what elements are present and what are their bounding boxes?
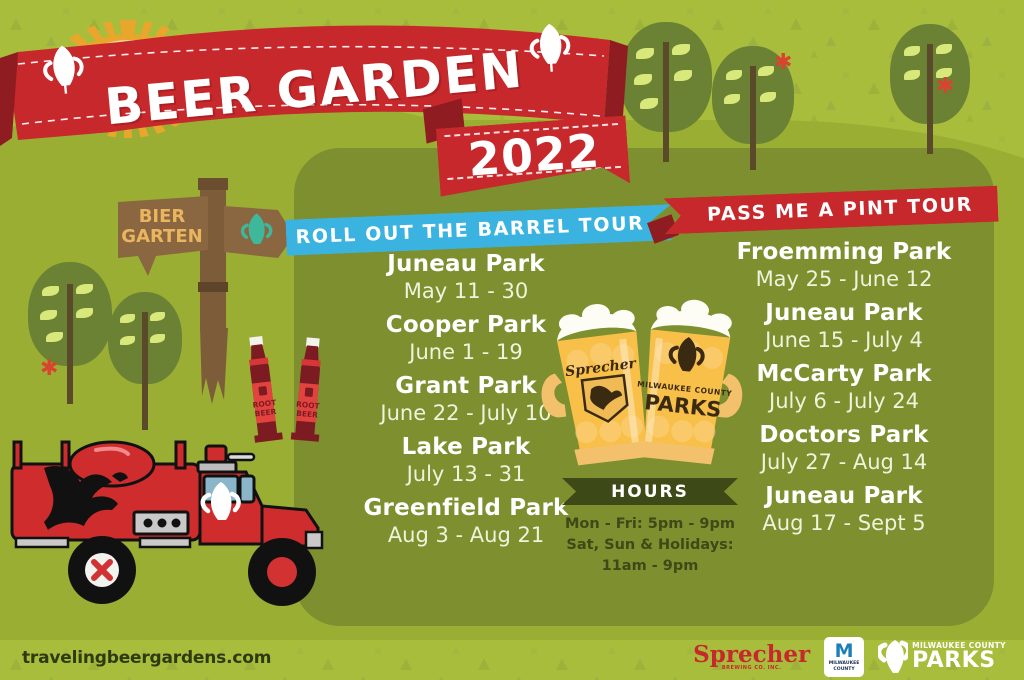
flower-icon: ✱ — [40, 358, 58, 380]
park-name: Froemming Park — [694, 240, 994, 266]
milwaukee-county-parks-logo[interactable]: MILWAUKEE COUNTY PARKS — [878, 640, 1006, 674]
sprecher-logo[interactable]: Sprecher BREWING CO. INC. — [693, 643, 810, 671]
milwaukee-county-label: MILWAUKEE COUNTY — [824, 661, 864, 672]
beer-mugs-illustration: Sprecher MILWAUKEE COUNTY PAR — [540, 296, 760, 481]
fire-truck-illustration — [0, 424, 350, 614]
tree-icon — [890, 24, 970, 154]
hours-line-3: 11am - 9pm — [540, 556, 760, 577]
flower-icon: ✱ — [936, 76, 954, 98]
leaf-icon — [878, 640, 908, 674]
hours-line-1: Mon - Fri: 5pm - 9pm — [540, 514, 760, 535]
hours-details: Mon - Fri: 5pm - 9pm Sat, Sun & Holidays… — [540, 514, 760, 577]
poster-canvas: ✱ ✱ ✱ The Traveling BEER GARDEN — [0, 0, 1024, 680]
website-url[interactable]: travelingbeergardens.com — [22, 648, 271, 668]
hours-heading-ribbon: HOURS — [562, 478, 738, 505]
tree-icon — [28, 262, 112, 404]
parks-logo-big: PARKS — [912, 650, 1006, 672]
signpost-line-1: BIER — [139, 206, 186, 227]
flower-icon: ✱ — [774, 52, 792, 74]
park-name: Juneau Park — [316, 252, 616, 278]
list-item[interactable]: Froemming Park May 25 - June 12 — [694, 240, 994, 293]
sprecher-wordmark: Sprecher — [693, 643, 810, 666]
park-name: Juneau Park — [694, 484, 994, 510]
hours-line-2: Sat, Sun & Holidays: — [540, 535, 760, 556]
park-dates: May 25 - June 12 — [694, 266, 994, 293]
milwaukee-county-monogram: M — [835, 642, 854, 661]
signpost-line-2: GARTEN — [121, 226, 202, 247]
milwaukee-county-logo[interactable]: M MILWAUKEE COUNTY — [824, 637, 864, 677]
sponsor-logos: Sprecher BREWING CO. INC. M MILWAUKEE CO… — [693, 636, 1006, 678]
